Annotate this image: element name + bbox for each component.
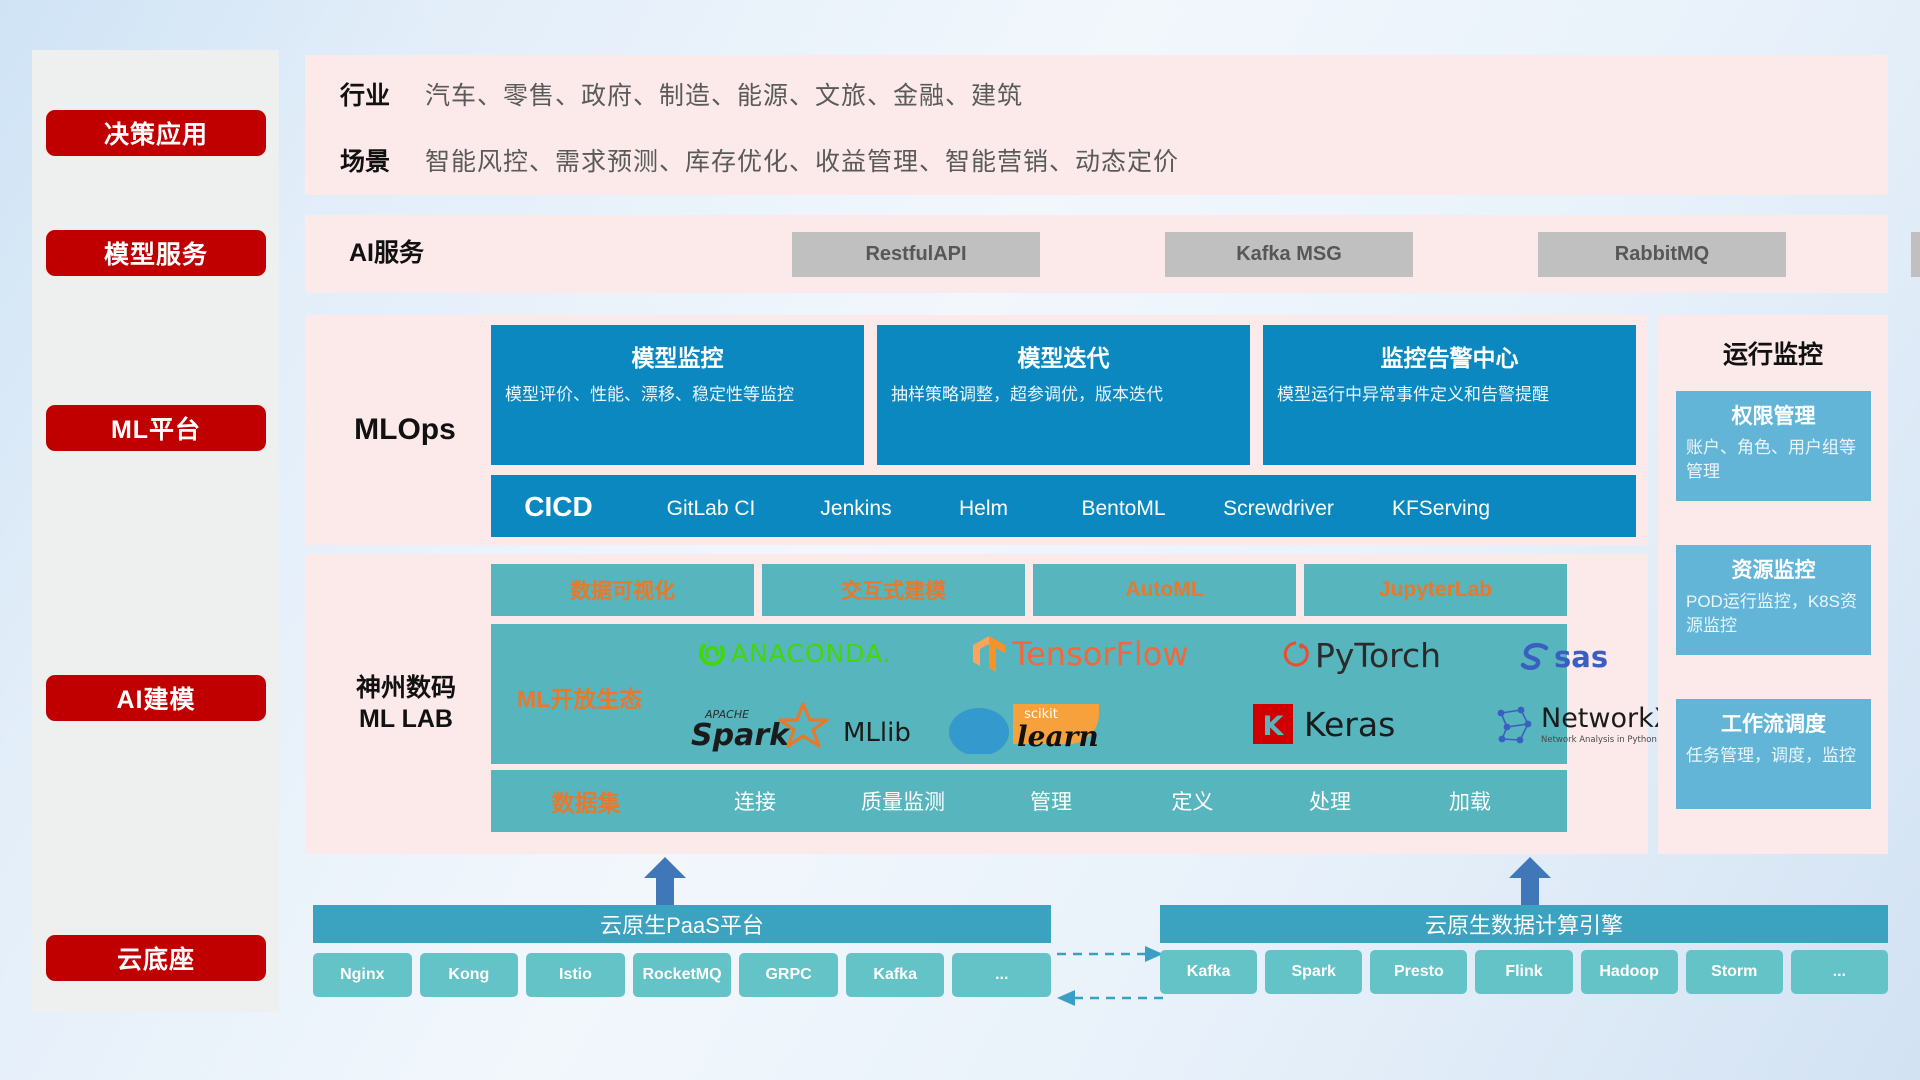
paas-bar: 云原生PaaS平台	[313, 905, 1051, 943]
paas-chip-more[interactable]: ...	[952, 953, 1051, 997]
industry-text: 汽车、零售、政府、制造、能源、文旅、金融、建筑	[425, 76, 1023, 112]
monitor-card-workflow[interactable]: 工作流调度 任务管理，调度，监控	[1676, 699, 1871, 809]
ai-service-label: AI服务	[319, 215, 454, 293]
monitor-card-permission-desc: 账户、角色、用户组等管理	[1686, 436, 1861, 484]
sas-logo: sas	[1519, 640, 1608, 674]
sas-icon	[1519, 642, 1553, 672]
keras-logo: K Keras	[1251, 702, 1395, 746]
layer-pill-cloud-base[interactable]: 云底座	[46, 935, 266, 981]
engine-chip-row: Kafka Spark Presto Flink Hadoop Storm ..…	[1160, 950, 1888, 994]
cicd-item-kfserving[interactable]: KFServing	[1361, 475, 1521, 523]
spark-mllib-logo: APACHE Spark MLlib	[691, 700, 911, 752]
dataset-row: 数据集 连接 质量监测 管理 定义 处理 加载	[491, 770, 1567, 832]
networkx-wordmark: NetworkX	[1541, 705, 1672, 732]
industry-label: 行业	[305, 76, 425, 112]
mlops-card-alert-center-desc: 模型运行中异常事件定义和告警提醒	[1277, 383, 1622, 408]
anaconda-icon	[697, 638, 727, 668]
layer-pill-decision[interactable]: 决策应用	[46, 110, 266, 156]
monitor-column: 运行监控 权限管理 账户、角色、用户组等管理 资源监控 POD运行监控，K8S资…	[1658, 315, 1888, 854]
networkx-tagline: Network Analysis in Python	[1541, 735, 1672, 745]
ml-lab-band: 神州数码 ML LAB 数据可视化 交互式建模 AutoML JupyterLa…	[305, 554, 1648, 854]
mlops-card-model-iteration[interactable]: 模型迭代 抽样策略调整，超参调优，版本迭代	[877, 325, 1250, 465]
layer-pill-cloud-base-label: 云底座	[117, 940, 195, 976]
arrow-up-engine-icon	[1505, 855, 1555, 905]
layer-rail	[32, 50, 279, 1012]
dataset-item-process[interactable]: 处理	[1260, 786, 1400, 816]
layer-pill-ml-platform-label: ML平台	[111, 410, 201, 446]
scenario-label: 场景	[305, 142, 425, 178]
layer-pill-ml-platform[interactable]: ML平台	[46, 405, 266, 451]
monitor-card-resource-title: 资源监控	[1676, 545, 1871, 584]
svg-text:K: K	[1263, 711, 1285, 742]
mlops-card-model-monitoring-desc: 模型评价、性能、漂移、稳定性等监控	[505, 383, 850, 408]
cicd-strip: CICD GitLab CI Jenkins Helm BentoML Scre…	[491, 475, 1636, 537]
paas-chip-nginx[interactable]: Nginx	[313, 953, 412, 997]
paas-chip-rocketmq[interactable]: RocketMQ	[633, 953, 732, 997]
scikit-learn-icon: scikit learn	[941, 698, 1111, 754]
mlops-card-model-monitoring[interactable]: 模型监控 模型评价、性能、漂移、稳定性等监控	[491, 325, 864, 465]
monitor-card-resource-desc: POD运行监控，K8S资源监控	[1686, 590, 1861, 638]
cicd-item-bentoml[interactable]: BentoML	[1051, 475, 1196, 523]
sas-wordmark: sas	[1554, 640, 1608, 674]
ml-lab-label-line1: 神州数码	[356, 673, 456, 704]
mllib-wordmark: MLlib	[843, 718, 911, 748]
layer-pill-ai-modeling-label: AI建模	[116, 680, 195, 716]
ai-service-chip-kafka-msg[interactable]: Kafka MSG	[1165, 232, 1413, 277]
scikit-learn-logo: scikit learn	[941, 698, 1111, 754]
paas-chip-kong[interactable]: Kong	[420, 953, 519, 997]
anaconda-wordmark: ANACONDA.	[731, 639, 892, 668]
bidirectional-dashed-arrows-icon	[1055, 940, 1165, 1010]
tensorflow-wordmark: TensorFlow	[1012, 635, 1189, 673]
dataset-item-quality[interactable]: 质量监测	[829, 786, 977, 816]
cicd-item-gitlab-ci[interactable]: GitLab CI	[626, 475, 796, 523]
ai-service-chip-web-service[interactable]: Web服务	[1911, 232, 1920, 277]
engine-chip-hadoop[interactable]: Hadoop	[1581, 950, 1678, 994]
scenario-text: 智能风控、需求预测、库存优化、收益管理、智能营销、动态定价	[425, 142, 1179, 178]
svg-text:Spark: Spark	[691, 718, 791, 752]
networkx-icon	[1491, 704, 1535, 746]
mlops-card-alert-center[interactable]: 监控告警中心 模型运行中异常事件定义和告警提醒	[1263, 325, 1636, 465]
keras-icon: K	[1251, 702, 1295, 746]
ai-service-chip-rabbitmq[interactable]: RabbitMQ	[1538, 232, 1786, 277]
tool-tab-data-visualization[interactable]: 数据可视化	[491, 564, 754, 616]
cicd-item-jenkins[interactable]: Jenkins	[796, 475, 916, 523]
paas-chip-grpc[interactable]: GRPC	[739, 953, 838, 997]
dataset-item-manage[interactable]: 管理	[977, 786, 1125, 816]
engine-bar: 云原生数据计算引擎	[1160, 905, 1888, 943]
monitor-card-workflow-title: 工作流调度	[1676, 699, 1871, 738]
mlops-card-alert-center-title: 监控告警中心	[1263, 339, 1636, 373]
monitor-card-permission-title: 权限管理	[1676, 391, 1871, 430]
mlops-label: MLOps	[315, 315, 495, 545]
mlops-card-model-iteration-desc: 抽样策略调整，超参调优，版本迭代	[891, 383, 1236, 408]
dataset-item-load[interactable]: 加载	[1400, 786, 1540, 816]
engine-bar-title: 云原生数据计算引擎	[1425, 908, 1623, 940]
tool-tab-automl[interactable]: AutoML	[1033, 564, 1296, 616]
engine-chip-presto[interactable]: Presto	[1370, 950, 1467, 994]
ml-lab-label: 神州数码 ML LAB	[311, 554, 501, 854]
engine-chip-flink[interactable]: Flink	[1475, 950, 1572, 994]
engine-chip-storm[interactable]: Storm	[1686, 950, 1783, 994]
tensorflow-logo: TensorFlow	[971, 634, 1189, 674]
cicd-item-helm[interactable]: Helm	[916, 475, 1051, 523]
paas-bar-title: 云原生PaaS平台	[600, 908, 764, 940]
tool-tab-interactive-modeling[interactable]: 交互式建模	[762, 564, 1025, 616]
ml-ecosystem-title: ML开放生态	[517, 680, 642, 714]
decision-band: 行业 汽车、零售、政府、制造、能源、文旅、金融、建筑 场景 智能风控、需求预测、…	[305, 55, 1888, 195]
monitor-card-permission[interactable]: 权限管理 账户、角色、用户组等管理	[1676, 391, 1871, 501]
paas-chip-row: Nginx Kong Istio RocketMQ GRPC Kafka ...	[313, 953, 1051, 997]
layer-pill-ai-modeling[interactable]: AI建模	[46, 675, 266, 721]
arrow-up-paas-icon	[640, 855, 690, 905]
layer-pill-model-service[interactable]: 模型服务	[46, 230, 266, 276]
scenario-row: 场景 智能风控、需求预测、库存优化、收益管理、智能营销、动态定价	[305, 127, 1888, 193]
pytorch-icon	[1281, 639, 1311, 673]
cicd-item-screwdriver[interactable]: Screwdriver	[1196, 475, 1361, 523]
cicd-head-label: CICD	[491, 475, 626, 523]
engine-chip-more[interactable]: ...	[1791, 950, 1888, 994]
ml-ecosystem-box: ML开放生态 ANACONDA. TensorFlow	[491, 624, 1567, 764]
mlops-card-model-iteration-title: 模型迭代	[877, 339, 1250, 373]
anaconda-logo: ANACONDA.	[697, 638, 892, 668]
dataset-item-define[interactable]: 定义	[1125, 786, 1260, 816]
industry-row: 行业 汽车、零售、政府、制造、能源、文旅、金融、建筑	[305, 61, 1888, 127]
monitor-column-title: 运行监控	[1658, 335, 1888, 371]
paas-chip-istio[interactable]: Istio	[526, 953, 625, 997]
layer-pill-model-service-label: 模型服务	[104, 235, 208, 271]
networkx-logo: NetworkX Network Analysis in Python	[1491, 704, 1672, 746]
tensorflow-icon	[971, 634, 1007, 674]
layer-pill-decision-label: 决策应用	[104, 115, 208, 151]
monitor-card-resource[interactable]: 资源监控 POD运行监控，K8S资源监控	[1676, 545, 1871, 655]
tool-tab-jupyterlab[interactable]: JupyterLab	[1304, 564, 1567, 616]
ai-service-chip-restfulapi[interactable]: RestfulAPI	[792, 232, 1040, 277]
engine-chip-spark[interactable]: Spark	[1265, 950, 1362, 994]
ai-service-band: AI服务 RestfulAPI Kafka MSG RabbitMQ Web服务	[305, 215, 1888, 293]
pytorch-wordmark: PyTorch	[1315, 636, 1441, 675]
pytorch-logo: PyTorch	[1281, 636, 1441, 675]
dataset-item-connect[interactable]: 连接	[681, 786, 829, 816]
engine-chip-kafka[interactable]: Kafka	[1160, 950, 1257, 994]
dataset-title: 数据集	[491, 784, 681, 818]
spark-icon: APACHE Spark	[691, 700, 837, 752]
svg-text:learn: learn	[1017, 720, 1099, 753]
keras-wordmark: Keras	[1304, 705, 1395, 744]
monitor-card-workflow-desc: 任务管理，调度，监控	[1686, 744, 1861, 768]
paas-chip-kafka[interactable]: Kafka	[846, 953, 945, 997]
mlops-band: MLOps 模型监控 模型评价、性能、漂移、稳定性等监控 模型迭代 抽样策略调整…	[305, 315, 1648, 545]
mlops-card-model-monitoring-title: 模型监控	[491, 339, 864, 373]
ml-lab-label-line2: ML LAB	[359, 704, 453, 735]
architecture-diagram: 决策应用 模型服务 ML平台 AI建模 云底座 行业 汽车、零售、政府、制造、能…	[0, 0, 1920, 1080]
